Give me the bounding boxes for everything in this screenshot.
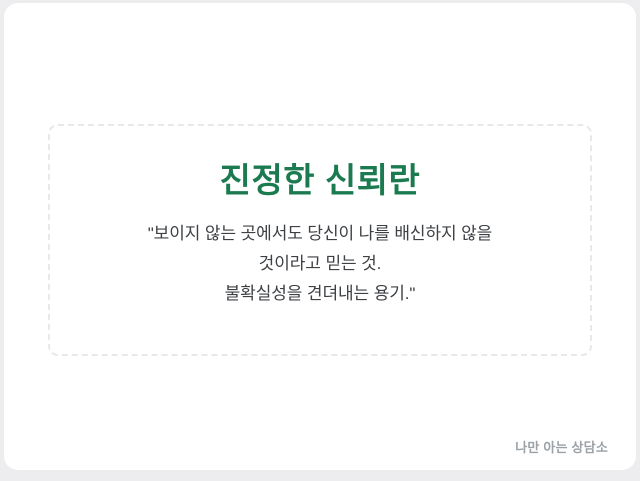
slide-card: 진정한 신뢰란 "보이지 않는 곳에서도 당신이 나를 배신하지 않을 것이라고… — [4, 3, 636, 470]
quote-title: 진정한 신뢰란 — [220, 162, 421, 201]
quote-body-line-1: "보이지 않는 곳에서도 당신이 나를 배신하지 않을 — [148, 219, 492, 249]
footer-brand-label: 나만 아는 상담소 — [515, 437, 608, 456]
quote-body-line-3: 불확실성을 견뎌내는 용기." — [148, 279, 492, 309]
quote-body: "보이지 않는 곳에서도 당신이 나를 배신하지 않을 것이라고 믿는 것. 불… — [134, 201, 506, 309]
quote-frame: 진정한 신뢰란 "보이지 않는 곳에서도 당신이 나를 배신하지 않을 것이라고… — [48, 124, 592, 356]
quote-body-line-2: 것이라고 믿는 것. — [148, 249, 492, 279]
